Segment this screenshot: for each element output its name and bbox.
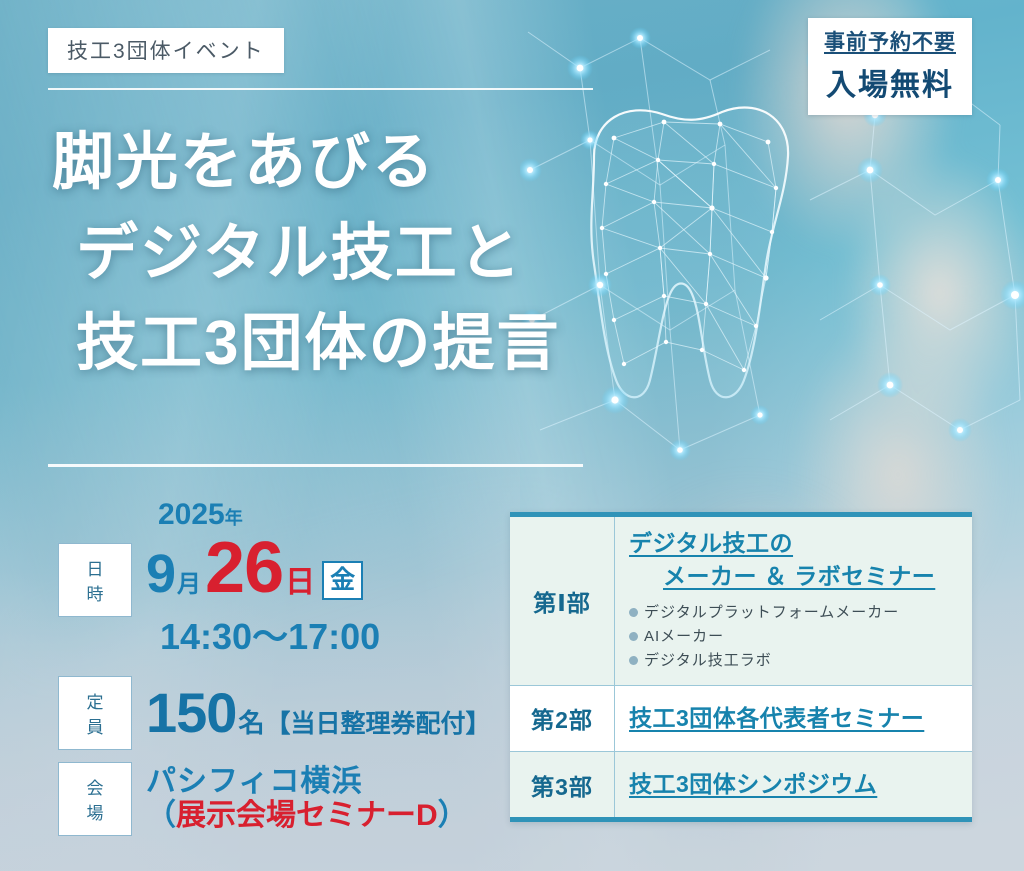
datetime-row: 日 時 2025年 9 月 26 日 金 14:30〜17:00 (58, 500, 528, 660)
program-title-line-1: デジタル技工の (629, 527, 960, 560)
table-row: 第Ⅰ部 デジタル技工の メーカー ＆ ラボセミナー デジタルプラットフォームメー… (510, 517, 972, 685)
event-year: 2025年 (158, 500, 380, 530)
capacity-number: 150 (146, 685, 236, 741)
divider-top (48, 88, 593, 90)
list-item-label: AIメーカー (644, 625, 724, 649)
program-part-body: デジタル技工の メーカー ＆ ラボセミナー デジタルプラットフォームメーカー A… (615, 517, 972, 685)
event-info: 日 時 2025年 9 月 26 日 金 14:30〜17:00 定 員 150… (58, 500, 528, 842)
venue-paren-open: （ (146, 799, 176, 832)
capacity-row: 定 員 150 名 【当日整理券配付】 (58, 676, 528, 750)
poster: 技工3団体イベント 事前予約不要 入場無料 脚光をあびる デジタル技工と 技工3… (0, 0, 1024, 871)
bullet-dot-icon (629, 656, 638, 665)
headline-line-3: 技工3団体の提言 (52, 299, 692, 390)
event-year-suffix: 年 (225, 508, 243, 528)
program-part-number: 第Ⅰ部 (510, 517, 615, 685)
event-month: 9 (146, 547, 176, 601)
capacity-value: 150 名 【当日整理券配付】 (146, 685, 490, 741)
table-row: 第2部 技工3団体各代表者セミナー (510, 685, 972, 751)
event-month-suffix: 月 (177, 573, 201, 597)
list-item-label: デジタルプラットフォームメーカー (644, 601, 899, 625)
event-weekday-box: 金 (322, 561, 363, 600)
program-part-body: 技工3団体シンポジウム (615, 752, 972, 817)
program-part-number: 第2部 (510, 686, 615, 751)
headline-line-1: 脚光をあびる (52, 118, 692, 209)
divider-middle (48, 464, 583, 467)
venue-room-line: （展示会場セミナーD） (146, 799, 468, 834)
program-title-line-1: 技工3団体シンポジウム (629, 768, 960, 801)
capacity-tag: 定 員 (58, 676, 132, 750)
event-badge: 技工3団体イベント (48, 28, 284, 73)
event-year-number: 2025 (158, 498, 225, 531)
list-item-label: デジタル技工ラボ (644, 649, 772, 673)
free-admission-label: 入場無料 (824, 60, 956, 104)
datetime-tag: 日 時 (58, 543, 132, 617)
bullet-dot-icon (629, 608, 638, 617)
venue-tag: 会 場 (58, 762, 132, 836)
table-row: 第3部 技工3団体シンポジウム (510, 751, 972, 817)
program-part-body: 技工3団体各代表者セミナー (615, 686, 972, 751)
program-part-number: 第3部 (510, 752, 615, 817)
no-reservation-note: 事前予約不要 (824, 26, 956, 56)
list-item: デジタル技工ラボ (629, 649, 960, 673)
bullet-dot-icon (629, 632, 638, 641)
list-item: デジタルプラットフォームメーカー (629, 601, 960, 625)
program-title-line-2: メーカー ＆ ラボセミナー (629, 560, 960, 593)
program-item-list: デジタルプラットフォームメーカー AIメーカー デジタル技工ラボ (629, 601, 960, 673)
page-title: 脚光をあびる デジタル技工と 技工3団体の提言 (52, 118, 692, 390)
program-title-line-1: 技工3団体各代表者セミナー (629, 702, 960, 735)
event-time: 14:30〜17:00 (160, 608, 380, 660)
event-day-suffix: 日 (285, 568, 315, 598)
venue-paren-close: ） (438, 799, 468, 832)
venue-room: 展示会場セミナーD (176, 799, 438, 832)
capacity-unit: 名 (238, 703, 264, 740)
free-admission-badge: 事前予約不要 入場無料 (808, 18, 972, 115)
event-date: 9 月 26 日 金 (146, 532, 380, 604)
event-day: 26 (205, 532, 283, 604)
capacity-note: 【当日整理券配付】 (265, 704, 490, 740)
list-item: AIメーカー (629, 625, 960, 649)
venue-row: 会 場 パシフィコ横浜 （展示会場セミナーD） (58, 762, 528, 836)
venue-value: パシフィコ横浜 （展示会場セミナーD） (146, 765, 468, 833)
datetime-value: 2025年 9 月 26 日 金 14:30〜17:00 (146, 500, 380, 660)
headline-line-2: デジタル技工と (52, 209, 692, 300)
program-table: 第Ⅰ部 デジタル技工の メーカー ＆ ラボセミナー デジタルプラットフォームメー… (510, 512, 972, 822)
venue-name: パシフィコ横浜 (146, 765, 468, 799)
